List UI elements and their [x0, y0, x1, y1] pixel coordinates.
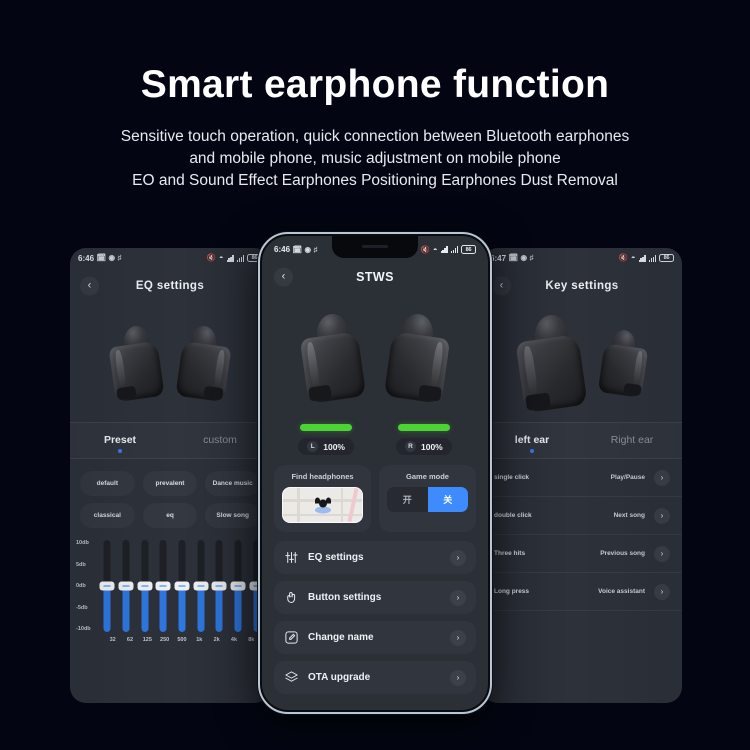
equalizer-icon — [284, 550, 299, 565]
signal-icon — [649, 255, 656, 262]
preset-pill-prevalent[interactable]: prevalent — [143, 471, 198, 496]
chevron-right-icon[interactable]: › — [654, 470, 670, 486]
key-row-three-hits[interactable]: Three hits Previous song › — [482, 535, 682, 573]
right-battery-percent: 100% — [421, 442, 443, 452]
chevron-right-icon[interactable]: › — [654, 546, 670, 562]
eq-slider[interactable] — [119, 540, 134, 632]
right-battery-pill: R 100% — [396, 438, 452, 455]
preset-pill-slow-song[interactable]: Slow song — [205, 503, 260, 528]
eq-db-label: -5db — [76, 605, 100, 611]
chevron-left-icon[interactable]: ‹ — [274, 268, 293, 287]
mute-icon: 🔇 — [421, 246, 430, 254]
mute-icon: 🔇 — [619, 254, 628, 262]
tab-left-ear[interactable]: left ear — [482, 423, 582, 458]
map-location-icon[interactable] — [282, 487, 363, 523]
tab-preset[interactable]: Preset — [70, 423, 170, 458]
gesture-label: Three hits — [494, 550, 600, 557]
game-mode-card: Game mode 开 关 — [379, 465, 476, 532]
preset-pill-grid: default prevalent Dance music classical … — [70, 459, 270, 534]
eq-db-label: -10db — [76, 626, 100, 632]
eq-frequency-label: 250 — [158, 637, 171, 643]
key-row-single-click[interactable]: single click Play/Pause › — [482, 459, 682, 497]
left-side-badge: L — [307, 441, 318, 452]
bluetooth-icon: ♯ — [118, 254, 122, 262]
promo-banner: Smart earphone function Sensitive touch … — [0, 0, 750, 750]
gesture-label: single click — [494, 474, 611, 481]
eq-frequency-label: 62 — [123, 637, 136, 643]
speaker-slot — [362, 245, 388, 248]
center-phone-stws: 6:46 🗓 ◉ ♯ 🔇 ◓ 86 ‹ STWS — [258, 232, 492, 714]
game-mode-toggle: 开 关 — [387, 487, 468, 512]
action-value: Next song — [614, 512, 645, 519]
tab-right-ear[interactable]: Right ear — [582, 423, 682, 458]
bluetooth-icon: ♯ — [314, 246, 318, 254]
eq-slider[interactable] — [231, 540, 246, 632]
status-time: 6:47 — [490, 254, 506, 263]
eq-slider[interactable] — [212, 540, 227, 632]
preset-pill-eq[interactable]: eq — [143, 503, 198, 528]
camera-icon: ◉ — [305, 246, 312, 254]
preset-pill-dance-music[interactable]: Dance music — [205, 471, 260, 496]
settings-menu-list: EQ settings › Button settings › Change n… — [262, 532, 488, 694]
signal-icon — [237, 255, 244, 262]
signal-icon — [451, 246, 458, 253]
gesture-label: Long press — [494, 588, 598, 595]
left-earbud-image — [300, 314, 366, 402]
signal-icon — [639, 255, 646, 262]
signal-icon — [227, 255, 234, 262]
preset-pill-classical[interactable]: classical — [80, 503, 135, 528]
battery-status-row: L 100% R 100% — [262, 422, 488, 455]
eq-slider[interactable] — [193, 540, 208, 632]
game-mode-off-option[interactable]: 关 — [428, 487, 469, 512]
eq-slider[interactable] — [156, 540, 171, 632]
action-value: Play/Pause — [611, 474, 645, 481]
chevron-left-icon[interactable]: ‹ — [80, 277, 99, 296]
menu-label: Change name — [308, 632, 441, 643]
signal-icon — [441, 246, 448, 253]
page-title: Smart earphone function — [0, 63, 750, 107]
left-battery-status: L 100% — [298, 424, 354, 455]
eq-frequency-label: 500 — [175, 637, 188, 643]
left-battery-bar — [300, 424, 352, 431]
earbuds-illustration — [482, 304, 682, 422]
wifi-icon: ◓ — [631, 254, 636, 262]
edit-pencil-icon — [284, 630, 299, 645]
active-tab-dot — [530, 449, 534, 453]
status-bar: 6:46 🗓 ◉ ♯ 🔇 ◓ 86 — [70, 248, 270, 268]
app-header: ‹ STWS — [262, 260, 488, 294]
chevron-right-icon[interactable]: › — [450, 630, 466, 646]
menu-item-eq-settings[interactable]: EQ settings › — [274, 541, 476, 574]
eq-db-label: 0db — [76, 583, 100, 589]
menu-item-change-name[interactable]: Change name › — [274, 621, 476, 654]
find-headphones-title: Find headphones — [291, 472, 353, 481]
earbuds-illustration — [70, 304, 270, 422]
eq-frequency-label: 2k — [210, 637, 223, 643]
right-battery-bar — [398, 424, 450, 431]
battery-indicator: 86 — [659, 254, 674, 263]
game-mode-title: Game mode — [406, 472, 449, 481]
eq-frequency-label: 1k — [193, 637, 206, 643]
eq-db-label: 5db — [76, 562, 100, 568]
status-time: 6:46 — [78, 254, 94, 263]
eq-db-axis: 10db 5db 0db -5db -10db — [76, 540, 100, 632]
battery-indicator: 86 — [461, 245, 476, 254]
menu-label: EQ settings — [308, 552, 441, 563]
right-phone-key-settings: 6:47 🗓 ◉ ♯ 🔇 ◓ 86 ‹ Key settings — [482, 248, 682, 703]
status-bar-right: 🔇 ◓ 86 — [207, 254, 262, 263]
calendar-icon: 🗓 — [97, 254, 107, 262]
page-subtitle: Sensitive touch operation, quick connect… — [50, 126, 700, 192]
status-bar-left: 6:47 🗓 ◉ ♯ — [490, 254, 533, 263]
status-bar-left: 6:46 🗓 ◉ ♯ — [274, 245, 317, 254]
subtitle-line-3: EO and Sound Effect Earphones Positionin… — [50, 170, 700, 192]
left-phone-eq-settings: 6:46 🗓 ◉ ♯ 🔇 ◓ 86 ‹ EQ settings — [70, 248, 270, 703]
eq-slider-row — [76, 540, 264, 632]
calendar-icon: 🗓 — [293, 246, 303, 254]
right-earbud-image — [175, 326, 231, 400]
right-side-badge: R — [405, 441, 416, 452]
eq-mode-tabs: Preset custom — [70, 422, 270, 459]
chevron-left-icon[interactable]: ‹ — [492, 277, 511, 296]
tab-custom[interactable]: custom — [170, 423, 270, 458]
active-tab-dot — [118, 449, 122, 453]
key-row-double-click[interactable]: double click Next song › — [482, 497, 682, 535]
chevron-right-icon[interactable]: › — [654, 584, 670, 600]
layers-icon — [284, 670, 299, 685]
eq-frequency-label: 4k — [227, 637, 240, 643]
earbuds-illustration — [262, 294, 488, 422]
status-bar: 6:47 🗓 ◉ ♯ 🔇 ◓ 86 — [482, 248, 682, 268]
gesture-label: double click — [494, 512, 614, 519]
phone-notch — [332, 236, 418, 258]
status-time: 6:46 — [274, 245, 290, 254]
menu-item-button-settings[interactable]: Button settings › — [274, 581, 476, 614]
eq-slider[interactable] — [175, 540, 190, 632]
eq-db-label: 10db — [76, 540, 100, 546]
left-earbud-image — [109, 326, 165, 400]
camera-icon: ◉ — [521, 254, 528, 262]
eq-frequency-axis: 32 62 125 250 500 1k 2k 4k 8k — [76, 632, 264, 643]
mute-icon: 🔇 — [207, 254, 216, 262]
eq-frequency-label: 125 — [141, 637, 154, 643]
app-header: ‹ EQ settings — [70, 268, 270, 304]
feature-card-row: Find headphones Game mode 开 关 — [262, 455, 488, 532]
tap-hand-icon — [284, 590, 299, 605]
wifi-icon: ◓ — [219, 254, 224, 262]
equalizer: 10db 5db 0db -5db -10db 32 62 125 — [70, 534, 270, 643]
eq-frequency-label: 8k — [245, 637, 258, 643]
chevron-right-icon[interactable]: › — [450, 670, 466, 686]
preset-pill-default[interactable]: default — [80, 471, 135, 496]
action-value: Voice assistant — [598, 588, 645, 595]
right-battery-status: R 100% — [396, 424, 452, 455]
ear-selector-tabs: left ear Right ear — [482, 422, 682, 459]
find-headphones-card[interactable]: Find headphones — [274, 465, 371, 532]
camera-icon: ◉ — [109, 254, 116, 262]
chevron-right-icon[interactable]: › — [654, 508, 670, 524]
status-bar-right: 🔇 ◓ 86 — [421, 245, 476, 254]
eq-slider[interactable] — [100, 540, 115, 632]
chevron-right-icon[interactable]: › — [450, 550, 466, 566]
status-bar-left: 6:46 🗓 ◉ ♯ — [78, 254, 121, 263]
subtitle-line-1: Sensitive touch operation, quick connect… — [50, 126, 700, 148]
eq-frequency-label: 32 — [106, 637, 119, 643]
screen-title: Key settings — [545, 280, 618, 292]
menu-item-ota-upgrade[interactable]: OTA upgrade › — [274, 661, 476, 694]
wifi-icon: ◓ — [433, 246, 438, 254]
right-earbud-image — [598, 330, 648, 396]
right-earbud-image — [384, 314, 450, 402]
subtitle-line-2: and mobile phone, music adjustment on mo… — [50, 148, 700, 170]
bluetooth-icon: ♯ — [530, 254, 534, 262]
eq-slider[interactable] — [137, 540, 152, 632]
status-bar-right: 🔇 ◓ 86 — [619, 254, 674, 263]
game-mode-on-option[interactable]: 开 — [387, 487, 428, 512]
screen-title: EQ settings — [136, 280, 204, 292]
app-header: ‹ Key settings — [482, 268, 682, 304]
menu-label: Button settings — [308, 592, 441, 603]
left-battery-pill: L 100% — [298, 438, 354, 455]
calendar-icon: 🗓 — [509, 254, 519, 262]
left-earbud-image — [516, 315, 588, 411]
phone-screen: 6:46 🗓 ◉ ♯ 🔇 ◓ 86 ‹ STWS — [262, 236, 488, 710]
left-battery-percent: 100% — [323, 442, 345, 452]
key-action-list: single click Play/Pause › double click N… — [482, 459, 682, 611]
action-value: Previous song — [600, 550, 645, 557]
screen-title: STWS — [356, 270, 394, 284]
menu-label: OTA upgrade — [308, 672, 441, 683]
chevron-right-icon[interactable]: › — [450, 590, 466, 606]
key-row-long-press[interactable]: Long press Voice assistant › — [482, 573, 682, 611]
